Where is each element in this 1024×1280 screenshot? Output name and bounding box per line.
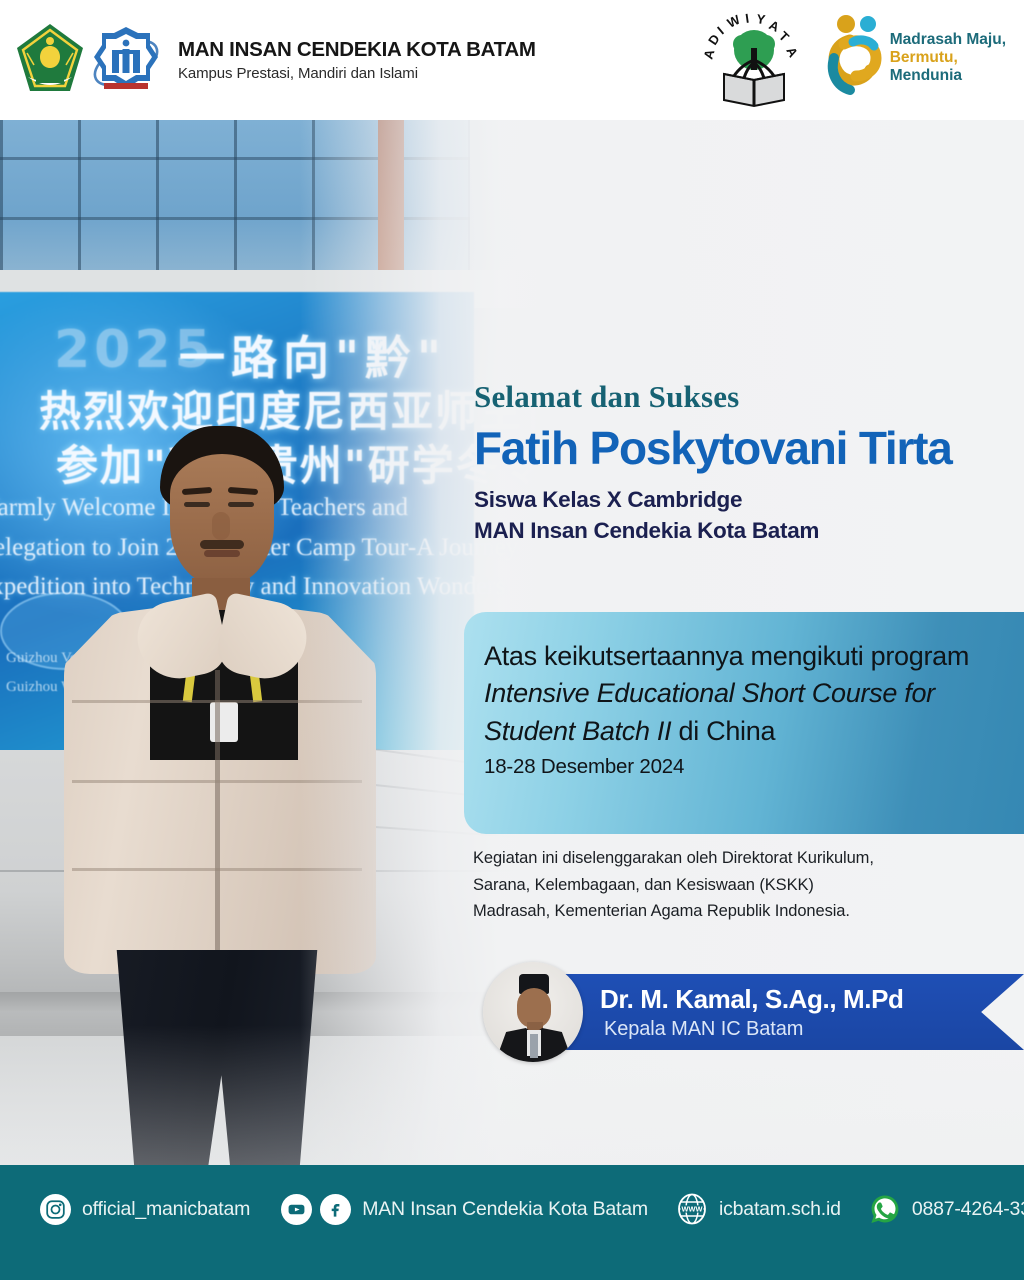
slogan-line-1: Madrasah Maju,: [890, 31, 1006, 49]
signature-block: Dr. M. Kamal, S.Ag., M.Pd Kepala MAN IC …: [478, 962, 1024, 1072]
awardee-role-line-1: Siswa Kelas X Cambridge: [474, 485, 1024, 516]
note-line-3: Madrasah, Kementerian Agama Republik Ind…: [473, 898, 1003, 925]
footer-website[interactable]: WWW icbatam.sch.id: [676, 1193, 841, 1225]
instagram-icon[interactable]: [40, 1194, 71, 1225]
kemenag-logo-icon: [14, 21, 86, 99]
svg-text:I: I: [744, 11, 750, 26]
madrasah-maju-logo: Madrasah Maju, Bermutu, Mendunia: [820, 14, 1006, 102]
congratulations-heading: Selamat dan Sukses: [474, 378, 1024, 415]
header-partner-logos: A D I W I Y A T A: [698, 8, 1006, 108]
adiwiyata-logo-icon: A D I W I Y A T A: [698, 8, 810, 108]
social-pages-name[interactable]: MAN Insan Cendekia Kota Batam: [362, 1198, 648, 1221]
madrasah-mark-icon: [820, 14, 886, 102]
svg-text:A: A: [700, 47, 717, 61]
footer-social-pages[interactable]: MAN Insan Cendekia Kota Batam: [281, 1194, 648, 1225]
svg-text:A: A: [783, 44, 801, 60]
slogan-line-2: Bermutu,: [890, 49, 1006, 67]
svg-text:A: A: [766, 17, 782, 35]
program-lead-text: Atas keikutsertaannya mengikuti program: [484, 641, 969, 671]
note-line-1: Kegiatan ini diselenggarakan oleh Direkt…: [473, 845, 1003, 872]
program-location: di China: [671, 716, 775, 746]
main-content: Selamat dan Sukses Fatih Poskytovani Tir…: [474, 378, 1024, 546]
awardee-role: Siswa Kelas X Cambridge MAN Insan Cendek…: [474, 485, 1024, 546]
footer-instagram[interactable]: official_manicbatam: [40, 1194, 250, 1225]
awardee-name: Fatih Poskytovani Tirta: [474, 424, 1024, 473]
awardee-role-line-2: MAN Insan Cendekia Kota Batam: [474, 516, 1024, 547]
headmaster-name: Dr. M. Kamal, S.Ag., M.Pd: [600, 984, 904, 1015]
organizer-note: Kegiatan ini diselenggarakan oleh Direkt…: [473, 845, 1003, 925]
instagram-handle[interactable]: official_manicbatam: [82, 1198, 250, 1221]
slogan-line-3: Mendunia: [890, 67, 1006, 85]
website-url[interactable]: icbatam.sch.id: [719, 1198, 841, 1221]
page-footer: official_manicbatam MAN Insan Cendekia K…: [0, 1165, 1024, 1280]
globe-www-icon[interactable]: WWW: [676, 1193, 708, 1225]
footer-contact-row: official_manicbatam MAN Insan Cendekia K…: [0, 1165, 1024, 1253]
page-header: MAN INSAN CENDEKIA KOTA BATAM Kampus Pre…: [0, 0, 1024, 120]
svg-text:Y: Y: [755, 11, 766, 27]
program-info-box: Atas keikutsertaannya mengikuti program …: [464, 612, 1024, 834]
note-line-2: Sarana, Kelembagaan, dan Kesiswaan (KSKK…: [473, 872, 1003, 899]
header-title-block: MAN INSAN CENDEKIA KOTA BATAM Kampus Pre…: [178, 38, 536, 82]
program-description: Atas keikutsertaannya mengikuti program …: [484, 638, 1024, 750]
madrasah-slogan: Madrasah Maju, Bermutu, Mendunia: [890, 31, 1006, 86]
youtube-icon[interactable]: [281, 1194, 312, 1225]
facebook-icon[interactable]: [320, 1194, 351, 1225]
insan-cendekia-logo-icon: [90, 23, 162, 97]
footer-whatsapp[interactable]: 0887-4264-3390: [869, 1193, 1024, 1225]
svg-text:W: W: [724, 12, 742, 31]
institution-tagline: Kampus Prestasi, Mandiri dan Islami: [178, 65, 536, 82]
svg-text:I: I: [714, 23, 726, 37]
headmaster-avatar: [483, 962, 583, 1062]
program-date: 18-28 Desember 2024: [484, 755, 1024, 779]
svg-text:WWW: WWW: [682, 1205, 703, 1214]
whatsapp-number[interactable]: 0887-4264-3390: [912, 1198, 1024, 1221]
svg-text:T: T: [776, 28, 792, 44]
headmaster-position: Kepala MAN IC Batam: [604, 1018, 803, 1041]
header-branding: MAN INSAN CENDEKIA KOTA BATAM Kampus Pre…: [14, 21, 536, 99]
institution-name: MAN INSAN CENDEKIA KOTA BATAM: [178, 38, 536, 62]
whatsapp-icon[interactable]: [869, 1193, 901, 1225]
